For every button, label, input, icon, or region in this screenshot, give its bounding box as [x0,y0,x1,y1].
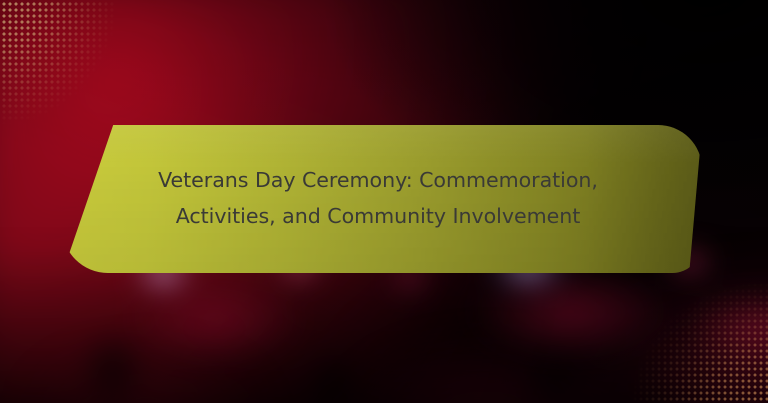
halftone-dots-top-left-icon [0,0,130,140]
page-title: Veterans Day Ceremony: Commemoration, Ac… [138,163,618,235]
banner-stage: Veterans Day Ceremony: Commemoration, Ac… [0,0,768,403]
title-card: Veterans Day Ceremony: Commemoration, Ac… [62,125,702,273]
halftone-dots-bottom-right-icon [618,268,768,403]
